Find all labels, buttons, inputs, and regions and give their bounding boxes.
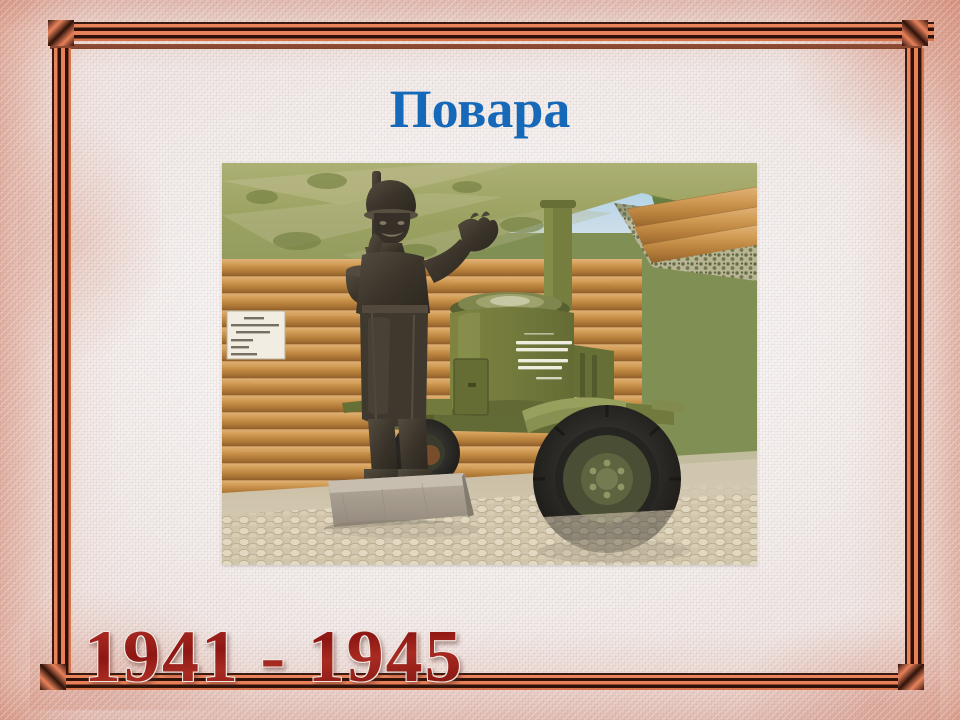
years-caption: 1941 - 1945 bbox=[84, 620, 464, 694]
ribbon-border-top-outer bbox=[62, 22, 934, 41]
presentation-slide: Повара bbox=[0, 0, 960, 720]
ribbon-corner-bottom-right bbox=[898, 664, 924, 690]
ribbon-corner-top-right bbox=[902, 20, 928, 46]
photo-illustration bbox=[222, 163, 757, 565]
slide-title: Повара bbox=[0, 82, 960, 136]
ribbon-border-right bbox=[905, 48, 924, 678]
photo-field-kitchen-monument bbox=[222, 163, 757, 565]
ribbon-border-left bbox=[52, 48, 71, 678]
ribbon-border-top-inner bbox=[50, 44, 922, 49]
ribbon-corner-bottom-left bbox=[40, 664, 66, 690]
ribbon-corner-top-left bbox=[48, 20, 74, 46]
